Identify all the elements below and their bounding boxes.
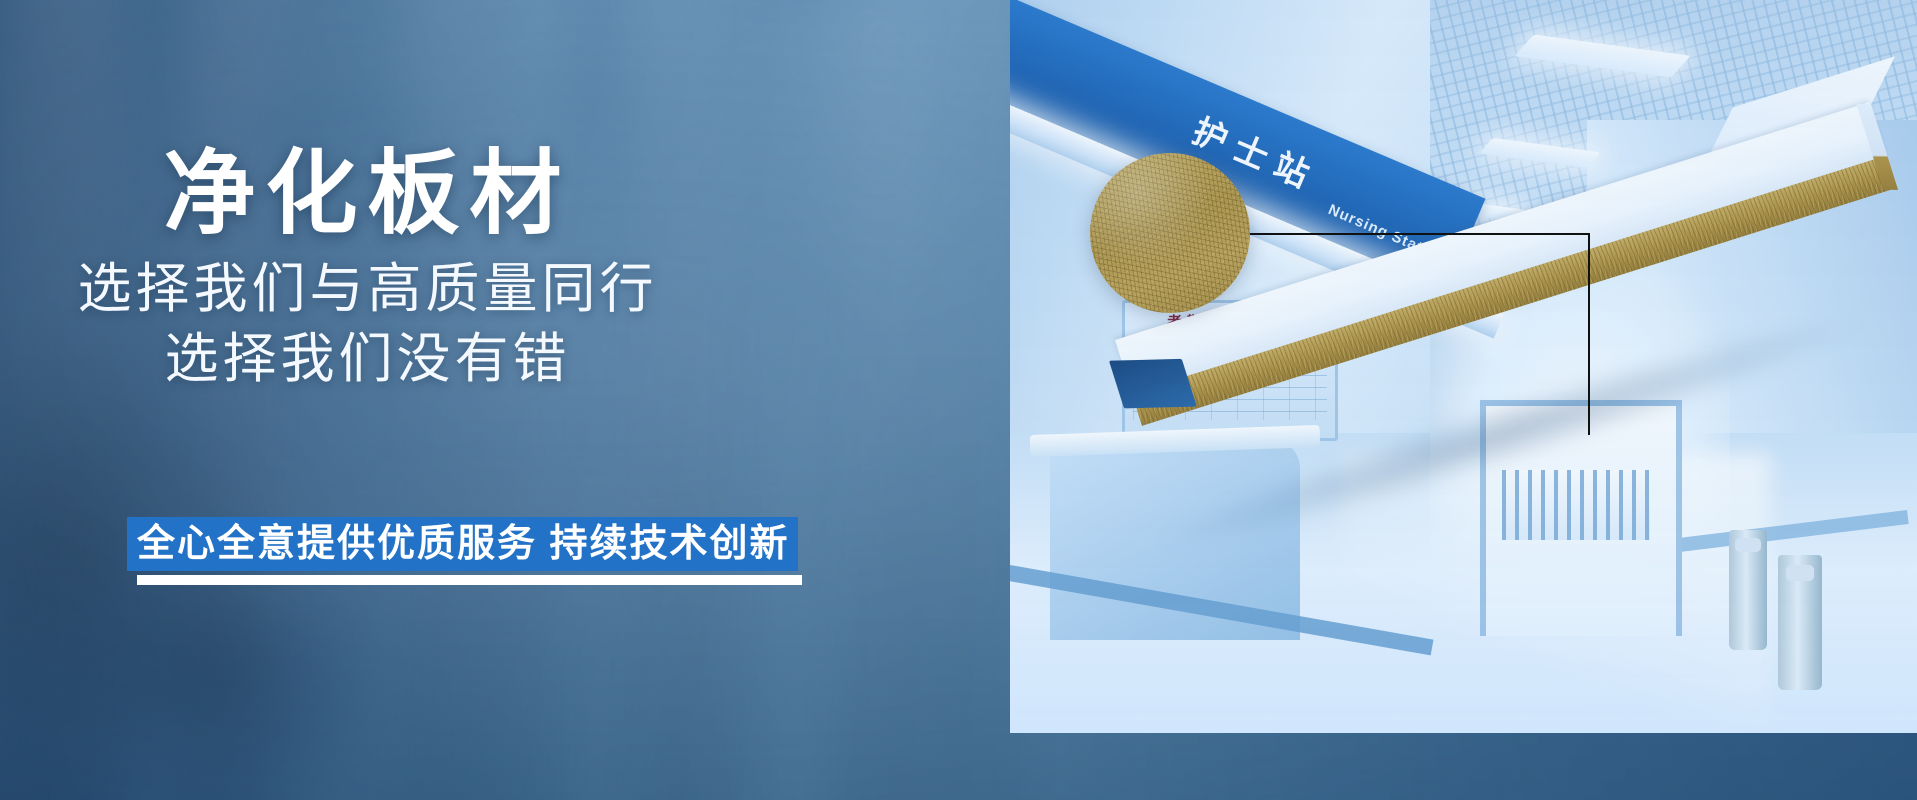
banner-tagline: 全心全意提供优质服务 持续技术创新	[127, 517, 798, 571]
banner-subtitle-line-2: 选择我们没有错	[0, 328, 735, 392]
banner-subtitle-line-1: 选择我们与高质量同行	[0, 258, 735, 322]
tagline-underline-rule	[137, 575, 802, 585]
banner-tagline-group: 全心全意提供优质服务 持续技术创新	[127, 517, 798, 571]
panel-left-edge	[1109, 359, 1197, 409]
corridor-window	[1502, 470, 1650, 540]
banner-copy: 净化板材 选择我们与高质量同行 选择我们没有错 全心全意提供优质服务 持续技术创…	[0, 0, 830, 800]
promo-banner: 净化板材 选择我们与高质量同行 选择我们没有错 全心全意提供优质服务 持续技术创…	[0, 0, 1917, 800]
banner-headline: 净化板材	[0, 146, 735, 243]
waste-bin	[1778, 555, 1822, 690]
callout-leader-line	[1250, 233, 1590, 235]
product-photo: 护士站 Nursing Station 考勤表	[1010, 0, 1917, 733]
waste-bin	[1729, 530, 1767, 650]
callout-leader-line-vertical	[1588, 233, 1590, 435]
rockwool-texture-callout	[1090, 153, 1250, 313]
